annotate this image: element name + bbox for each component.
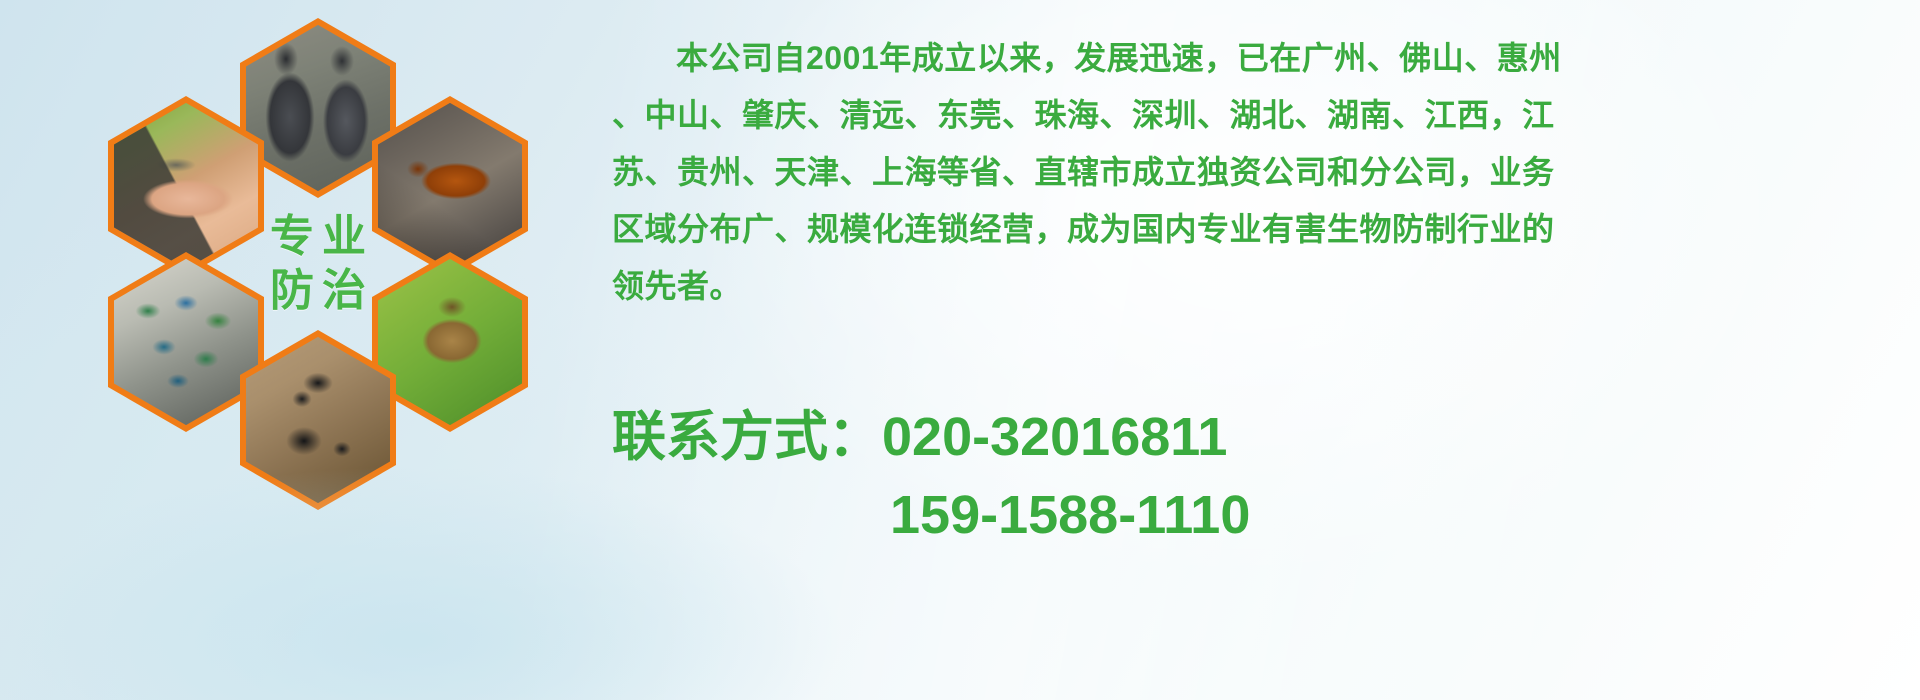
company-intro: 本公司自2001年成立以来，发展迅速，已在广州、佛山、惠州 、中山、肇庆、清远、… <box>612 30 1912 315</box>
intro-line-1: 本公司自2001年成立以来，发展迅速，已在广州、佛山、惠州 <box>612 30 1912 87</box>
contact-label: 联系方式： <box>612 407 882 467</box>
contact-primary-line[interactable]: 联系方式：020-32016811 <box>612 398 1912 476</box>
hex-label-inner: 专业 防治 <box>246 181 390 347</box>
intro-line-5: 领先者。 <box>612 258 1912 315</box>
hex-photo-flies <box>114 259 258 425</box>
hex-photo-ants <box>246 337 390 503</box>
hex-photo-mosquito <box>114 103 258 269</box>
contact-block: 联系方式：020-32016811 159-1588-1110 <box>612 398 1912 554</box>
hex-photo-stinkbug <box>378 259 522 425</box>
contact-phone-primary[interactable]: 020-32016811 <box>882 407 1227 467</box>
intro-line-3: 苏、贵州、天津、上海等省、直辖市成立独资公司和分公司，业务 <box>612 144 1912 201</box>
intro-line-2: 、中山、肇庆、清远、东莞、珠海、深圳、湖北、湖南、江西，江 <box>612 87 1912 144</box>
hex-photo-rats <box>246 25 390 191</box>
honeycomb-label-line1: 专业 <box>262 215 374 259</box>
contact-phone-secondary[interactable]: 159-1588-1110 <box>612 476 1912 554</box>
honeycomb-label: 专业 防治 <box>246 181 390 347</box>
intro-line-4: 区域分布广、规模化连锁经营，成为国内专业有害生物防制行业的 <box>612 201 1912 258</box>
hex-photo-cockroach <box>378 103 522 269</box>
honeycomb-cluster: 专业 防治 <box>90 10 590 570</box>
honeycomb-label-line2: 防治 <box>262 269 374 313</box>
promo-banner: 专业 防治 本公司自2001年成立以来，发展迅速，已在广州、佛山、惠州 、中山、… <box>0 0 1920 700</box>
